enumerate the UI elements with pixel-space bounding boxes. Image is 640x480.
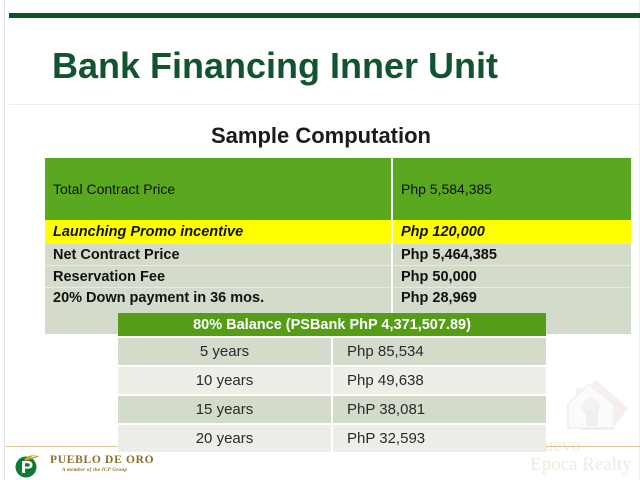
cell-value: Php 120,000	[392, 220, 631, 244]
table-row: Total Contract Price Php 5,584,385	[45, 158, 631, 220]
brand-logo: PUEBLO DE ORO A member of the ICP Group	[14, 452, 204, 478]
cell-amount: PhP 32,593	[332, 424, 546, 453]
corner-watermark-line2: Epoca Realty	[530, 455, 632, 474]
page-title: Bank Financing Inner Unit	[52, 43, 612, 89]
cell-amount: Php 49,638	[332, 366, 546, 395]
house-tag-icon	[556, 378, 630, 440]
corner-watermark: Nuevo Epoca Realty	[548, 378, 640, 478]
cell-term: 10 years	[118, 366, 332, 395]
cell-term: 15 years	[118, 395, 332, 424]
table-row: Launching Promo incentive Php 120,000	[45, 220, 631, 244]
cell-label: Total Contract Price	[45, 158, 392, 220]
balance-table: 80% Balance (PSBank PhP 4,371,507.89) 5 …	[118, 313, 546, 454]
table-row: 20 years PhP 32,593	[118, 424, 546, 453]
cell-amount: Php 85,534	[332, 337, 546, 366]
cell-amount: PhP 38,081	[332, 395, 546, 424]
cell-label: Reservation Fee	[45, 266, 392, 288]
table-row: 5 years Php 85,534	[118, 337, 546, 366]
title-top-rule	[9, 13, 640, 18]
cell-label: Net Contract Price	[45, 244, 392, 266]
cell-value: Php 5,464,385	[392, 244, 631, 266]
brand-logo-name: PUEBLO DE ORO	[50, 454, 154, 466]
cell-label: Launching Promo incentive	[45, 220, 392, 244]
table-row: 15 years PhP 38,081	[118, 395, 546, 424]
title-bottom-rule	[9, 104, 640, 105]
table-row: Reservation Fee Php 50,000	[45, 266, 631, 288]
balance-table-header-row: 80% Balance (PSBank PhP 4,371,507.89)	[118, 313, 546, 337]
table-row: 10 years Php 49,638	[118, 366, 546, 395]
slide-left-edge	[4, 0, 5, 480]
brand-logo-tagline: A member of the ICP Group	[62, 467, 127, 473]
balance-table-header: 80% Balance (PSBank PhP 4,371,507.89)	[118, 313, 546, 337]
slide-canvas: Bank Financing Inner Unit Sample Computa…	[0, 0, 640, 480]
table-row: Net Contract Price Php 5,464,385	[45, 244, 631, 266]
cell-value: Php 5,584,385	[392, 158, 631, 220]
cell-term: 5 years	[118, 337, 332, 366]
computation-table: Total Contract Price Php 5,584,385 Launc…	[45, 158, 631, 334]
cell-value: Php 50,000	[392, 266, 631, 288]
cell-term: 20 years	[118, 424, 332, 453]
pueblo-de-oro-logo-icon	[14, 452, 44, 478]
section-subtitle: Sample Computation	[45, 122, 597, 150]
